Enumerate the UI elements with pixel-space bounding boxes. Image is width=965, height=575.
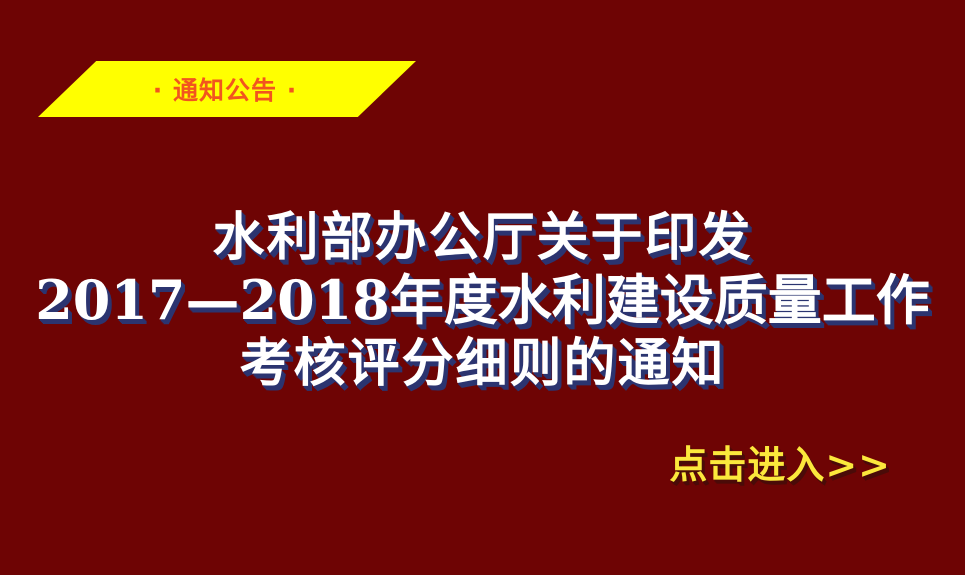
title-line-2: 2017—2018年度水利建设质量工作 xyxy=(0,269,965,332)
poster-title: 水利部办公厅关于印发 2017—2018年度水利建设质量工作 考核评分细则的通知 xyxy=(0,206,965,395)
banner-label: · 通知公告 · xyxy=(38,61,416,117)
notice-banner: · 通知公告 · xyxy=(38,61,416,117)
title-line-1: 水利部办公厅关于印发 xyxy=(0,206,965,269)
announcement-poster: · 通知公告 · 水利部办公厅关于印发 2017—2018年度水利建设质量工作 … xyxy=(0,0,965,575)
enter-link[interactable]: 点击进入>> xyxy=(669,434,891,489)
title-line-3: 考核评分细则的通知 xyxy=(0,332,965,395)
